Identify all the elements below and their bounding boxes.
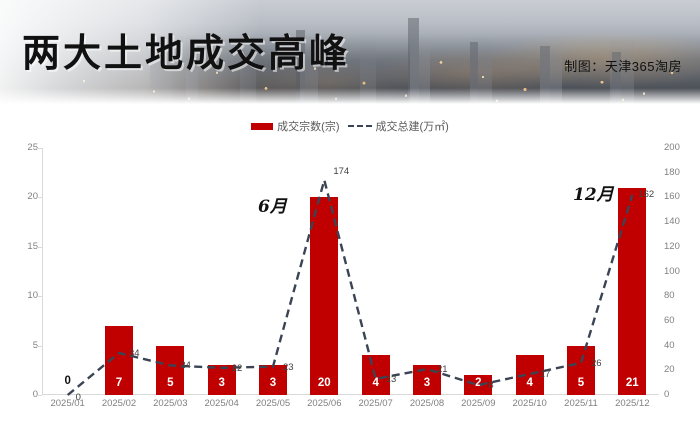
bar-column[interactable]: 5	[145, 148, 196, 395]
line-value-label: 23	[283, 362, 294, 373]
bar-value-label: 21	[626, 378, 639, 396]
y-axis-right-tick-label: 60	[664, 315, 675, 326]
x-axis-tick-label: 2025/02	[93, 398, 144, 409]
bar-value-label: 0	[64, 376, 70, 394]
bar-value-label: 20	[318, 378, 331, 396]
legend-line-swatch-icon	[348, 121, 372, 131]
x-axis-tick-label: 2025/01	[42, 398, 93, 409]
line-value-label: 22	[232, 363, 243, 374]
x-axis-tick-label: 2025/03	[145, 398, 196, 409]
y-axis-right-tick-label: 140	[664, 216, 680, 227]
bar-column[interactable]: 3	[196, 148, 247, 395]
bar-column[interactable]: 21	[607, 148, 658, 395]
bar-value-label: 4	[526, 378, 532, 396]
peak-annotation: 6月	[258, 192, 287, 217]
y-axis-right-tick-label: 20	[664, 364, 675, 375]
y-axis-right-tick-label: 120	[664, 241, 680, 252]
y-axis-right-tick-label: 40	[664, 340, 675, 351]
y-axis-right-tick-label: 80	[664, 290, 675, 301]
y-axis-right-tick-label: 0	[664, 389, 669, 400]
x-axis-tick-label: 2025/04	[196, 398, 247, 409]
banner-bottom-fade	[0, 88, 700, 104]
x-axis-tick-label: 2025/10	[504, 398, 555, 409]
x-axis-tick-label: 2025/09	[453, 398, 504, 409]
y-axis-left-tick	[37, 395, 42, 396]
bar[interactable]: 7	[105, 326, 133, 395]
bar[interactable]: 20	[310, 197, 338, 395]
bar-column[interactable]: 4	[504, 148, 555, 395]
line-value-label: 34	[129, 348, 140, 359]
x-axis-tick-label: 2025/06	[299, 398, 350, 409]
line-value-label: 174	[333, 166, 349, 177]
legend-item-bar[interactable]: 成交宗数(宗)	[251, 118, 339, 134]
bar-column[interactable]: 3	[247, 148, 298, 395]
bar-column[interactable]: 3	[401, 148, 452, 395]
bar-column[interactable]: 20	[299, 148, 350, 395]
y-axis-right-tick-label: 160	[664, 191, 680, 202]
y-axis-right-tick-label: 200	[664, 142, 680, 153]
line-value-label: 17	[540, 369, 551, 380]
x-axis-tick-label: 2025/11	[555, 398, 606, 409]
header-banner: 两大土地成交高峰 制图：天津365淘房	[0, 0, 700, 104]
legend-item-line[interactable]: 成交总建(万㎡)	[348, 118, 449, 134]
bar-value-label: 3	[424, 378, 430, 396]
line-value-label: 8	[488, 380, 493, 391]
page-title: 两大土地成交高峰	[22, 22, 350, 77]
peak-annotation: 12月	[573, 180, 614, 205]
line-value-label: 26	[591, 358, 602, 369]
x-axis-tick-label: 2025/07	[350, 398, 401, 409]
x-axis-labels: 2025/012025/022025/032025/042025/052025/…	[42, 398, 658, 414]
y-axis-right-tick-label: 100	[664, 266, 680, 277]
bar-column[interactable]: 2	[453, 148, 504, 395]
bar-column[interactable]: 4	[350, 148, 401, 395]
legend-bar-swatch-icon	[251, 123, 273, 130]
bar[interactable]: 5	[567, 346, 595, 395]
bar-value-label: 3	[270, 378, 276, 396]
chart-page: 两大土地成交高峰 制图：天津365淘房 成交宗数(宗) 成交总建(万㎡) 051…	[0, 0, 700, 436]
bar[interactable]: 21	[618, 188, 646, 395]
credit-text: 制图：天津365淘房	[564, 56, 682, 75]
chart-legend: 成交宗数(宗) 成交总建(万㎡)	[0, 118, 700, 134]
line-value-label: 21	[437, 364, 448, 375]
bar-value-label: 2	[475, 378, 481, 396]
legend-bar-label: 成交宗数(宗)	[277, 118, 339, 134]
x-axis-tick-label: 2025/08	[401, 398, 452, 409]
y-axis-right-tick-label: 180	[664, 167, 680, 178]
bar-value-label: 4	[372, 378, 378, 396]
line-value-label: 13	[386, 374, 397, 385]
line-value-label: 162	[638, 189, 654, 200]
bar-value-label: 5	[578, 378, 584, 396]
chart-area: 0510152025 020406080100120140160180200 0…	[0, 140, 700, 436]
line-value-label: 24	[180, 360, 191, 371]
bar-value-label: 3	[218, 378, 224, 396]
legend-line-label: 成交总建(万㎡)	[376, 118, 449, 134]
x-axis-tick-label: 2025/05	[247, 398, 298, 409]
bar-column[interactable]: 0	[42, 148, 93, 395]
bar-value-label: 7	[116, 378, 122, 396]
x-axis-tick-label: 2025/12	[607, 398, 658, 409]
bar-value-label: 5	[167, 378, 173, 396]
